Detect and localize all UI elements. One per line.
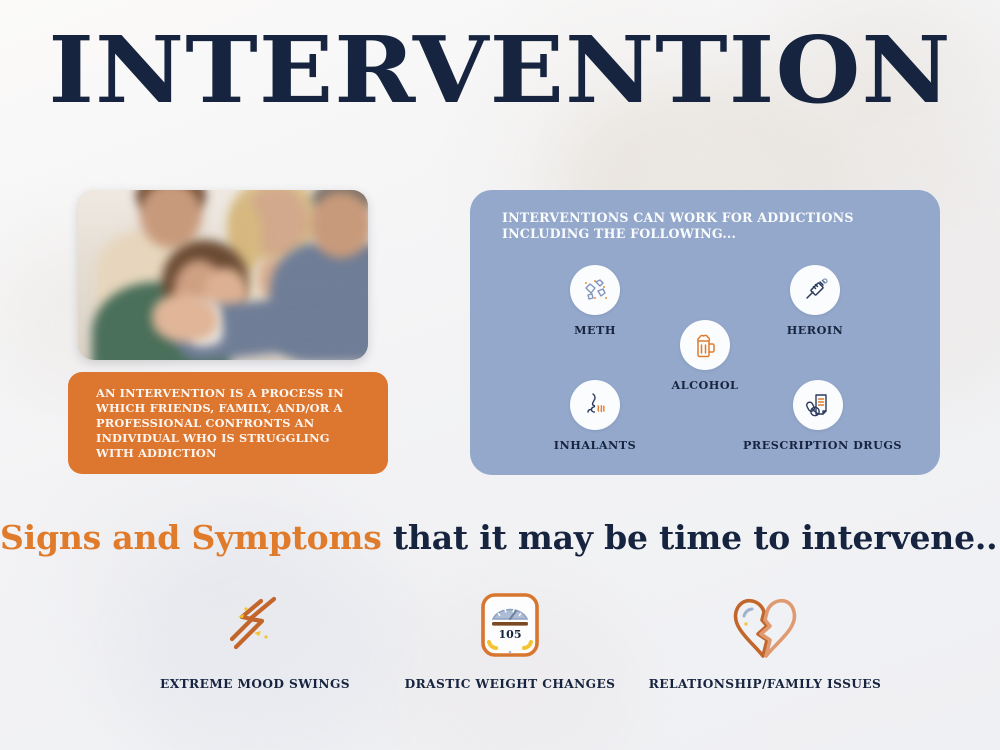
signs-heading-highlight: Signs and Symptoms <box>0 518 382 557</box>
definition-text: AN INTERVENTION IS A PROCESS IN WHICH FR… <box>96 386 370 461</box>
scale-reading: 105 <box>499 628 522 641</box>
symptom-label: DRASTIC WEIGHT CHANGES <box>385 677 635 691</box>
addiction-item-meth: METH <box>535 265 655 337</box>
support-group-photo <box>78 190 368 360</box>
addiction-item-inhalants: INHALANTS <box>535 380 655 452</box>
addictions-panel-heading: INTERVENTIONS CAN WORK FOR ADDICTIONS IN… <box>502 210 914 242</box>
symptom-extreme-mood-swings: EXTREME MOOD SWINGS <box>130 585 380 691</box>
broken-heart-icon <box>640 585 890 667</box>
addiction-item-prescription-drugs: PRESCRIPTION DRUGS <box>743 380 893 452</box>
addictions-panel: INTERVENTIONS CAN WORK FOR ADDICTIONS IN… <box>470 190 940 475</box>
addiction-label: PRESCRIPTION DRUGS <box>743 438 893 452</box>
beer-mug-icon <box>680 320 730 370</box>
addiction-label: HEROIN <box>755 323 875 337</box>
syringe-icon <box>790 265 840 315</box>
signs-and-symptoms-heading: Signs and Symptoms that it may be time t… <box>0 518 1000 557</box>
definition-callout: AN INTERVENTION IS A PROCESS IN WHICH FR… <box>68 372 388 474</box>
photo-person-right-head <box>310 192 368 258</box>
meth-crystals-icon <box>570 265 620 315</box>
addiction-label: INHALANTS <box>535 438 655 452</box>
photo-content <box>78 190 368 360</box>
symptom-label: RELATIONSHIP/FAMILY ISSUES <box>640 677 890 691</box>
nose-fumes-icon <box>570 380 620 430</box>
symptom-relationship-family-issues: RELATIONSHIP/FAMILY ISSUES <box>640 585 890 691</box>
addiction-label: METH <box>535 323 655 337</box>
page-title: INTERVENTION <box>0 24 1000 116</box>
infographic-canvas: INTERVENTION AN INTERVENTION IS A PR <box>0 0 1000 750</box>
photo-comforting-hand <box>152 294 218 342</box>
symptom-drastic-weight-changes: 105 DRASTIC WEIGHT CHANGES <box>385 585 635 691</box>
signs-heading-rest: that it may be time to intervene... <box>382 518 1000 557</box>
symptom-list: EXTREME MOOD SWINGS 105 <box>130 585 890 691</box>
prescription-pad-pills-icon <box>793 380 843 430</box>
addiction-item-heroin: HEROIN <box>755 265 875 337</box>
bathroom-scale-icon: 105 <box>385 585 635 667</box>
symptom-label: EXTREME MOOD SWINGS <box>130 677 380 691</box>
lightning-bolts-icon <box>130 585 380 667</box>
